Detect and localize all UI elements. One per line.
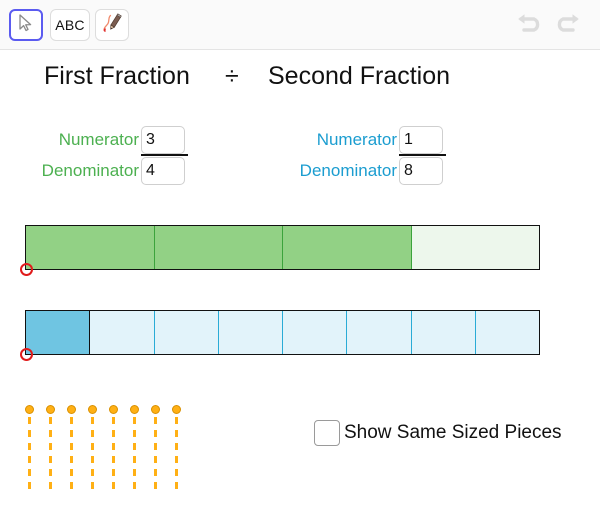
- second-fraction-bar: [399, 154, 446, 156]
- partition-marker[interactable]: [109, 405, 119, 505]
- undo-icon: [512, 12, 542, 39]
- show-same-sized-pieces-label: Show Same Sized Pieces: [344, 422, 562, 444]
- bar-cell[interactable]: [283, 311, 347, 354]
- second-numerator-label: Numerator: [317, 130, 399, 150]
- first-denominator-input[interactable]: [141, 157, 185, 185]
- bar-cell[interactable]: [476, 311, 539, 354]
- partition-marker[interactable]: [67, 405, 77, 505]
- toolbar: ABC: [0, 0, 600, 50]
- first-numerator-row: Numerator: [30, 124, 185, 155]
- bar-cell[interactable]: [26, 311, 90, 354]
- pencil-icon: [101, 12, 123, 39]
- second-fraction-controls: Numerator Denominator: [288, 124, 443, 186]
- partition-dot-icon[interactable]: [151, 405, 160, 414]
- bar-cell[interactable]: [347, 311, 411, 354]
- first-fraction-controls: Numerator Denominator: [30, 124, 185, 186]
- second-numerator-row: Numerator: [288, 124, 443, 155]
- bar-cell[interactable]: [90, 311, 154, 354]
- cursor-arrow-icon: [18, 14, 34, 37]
- partition-marker[interactable]: [88, 405, 98, 505]
- partition-dashed-line: [49, 417, 52, 493]
- partition-dashed-line: [175, 417, 178, 493]
- bar-cell[interactable]: [283, 226, 412, 269]
- second-bar-origin-handle[interactable]: [20, 348, 33, 361]
- partition-dot-icon[interactable]: [109, 405, 118, 414]
- page-title: First Fraction ÷ Second Fraction: [0, 62, 600, 96]
- redo-icon: [555, 12, 585, 39]
- first-numerator-label: Numerator: [59, 130, 141, 150]
- first-fraction-bar: [141, 154, 188, 156]
- first-numerator-input[interactable]: [141, 126, 185, 154]
- bar-cell[interactable]: [219, 311, 283, 354]
- bar-cell[interactable]: [412, 226, 540, 269]
- partition-marker[interactable]: [46, 405, 56, 505]
- partition-marker[interactable]: [151, 405, 161, 505]
- title-first-fraction: First Fraction: [44, 62, 190, 91]
- text-tool-button[interactable]: ABC: [50, 9, 90, 41]
- partition-dot-icon[interactable]: [25, 405, 34, 414]
- second-fraction-model-bar[interactable]: [25, 310, 540, 355]
- pen-tool-button[interactable]: [95, 9, 129, 41]
- first-denominator-row: Denominator: [30, 155, 185, 186]
- partition-dot-icon[interactable]: [172, 405, 181, 414]
- second-denominator-row: Denominator: [288, 155, 443, 186]
- partition-marker[interactable]: [25, 405, 35, 505]
- partition-dashed-line: [154, 417, 157, 493]
- second-numerator-input[interactable]: [399, 126, 443, 154]
- partition-dashed-line: [133, 417, 136, 493]
- redo-button[interactable]: [553, 11, 587, 39]
- bar-cell[interactable]: [155, 226, 284, 269]
- first-denominator-label: Denominator: [42, 161, 141, 181]
- partition-dot-icon[interactable]: [46, 405, 55, 414]
- partition-dashed-line: [91, 417, 94, 493]
- partition-dot-icon[interactable]: [130, 405, 139, 414]
- show-same-sized-pieces-row[interactable]: Show Same Sized Pieces: [314, 420, 562, 446]
- second-denominator-label: Denominator: [300, 161, 399, 181]
- title-division-symbol: ÷: [225, 62, 239, 91]
- partition-dashed-line: [28, 417, 31, 493]
- partition-dot-icon[interactable]: [88, 405, 97, 414]
- partition-marker[interactable]: [172, 405, 182, 505]
- first-bar-origin-handle[interactable]: [20, 263, 33, 276]
- undo-button[interactable]: [510, 11, 544, 39]
- title-second-fraction: Second Fraction: [268, 62, 450, 91]
- bar-cell[interactable]: [26, 226, 155, 269]
- show-same-sized-pieces-checkbox[interactable]: [314, 420, 340, 446]
- text-tool-label: ABC: [55, 17, 84, 33]
- bar-cell[interactable]: [155, 311, 219, 354]
- partition-dashed-line: [112, 417, 115, 493]
- partition-dot-grid: [25, 405, 185, 505]
- bar-cell[interactable]: [412, 311, 476, 354]
- second-denominator-input[interactable]: [399, 157, 443, 185]
- partition-marker[interactable]: [130, 405, 140, 505]
- partition-dashed-line: [70, 417, 73, 493]
- partition-dot-icon[interactable]: [67, 405, 76, 414]
- select-tool-button[interactable]: [9, 9, 43, 41]
- first-fraction-model-bar[interactable]: [25, 225, 540, 270]
